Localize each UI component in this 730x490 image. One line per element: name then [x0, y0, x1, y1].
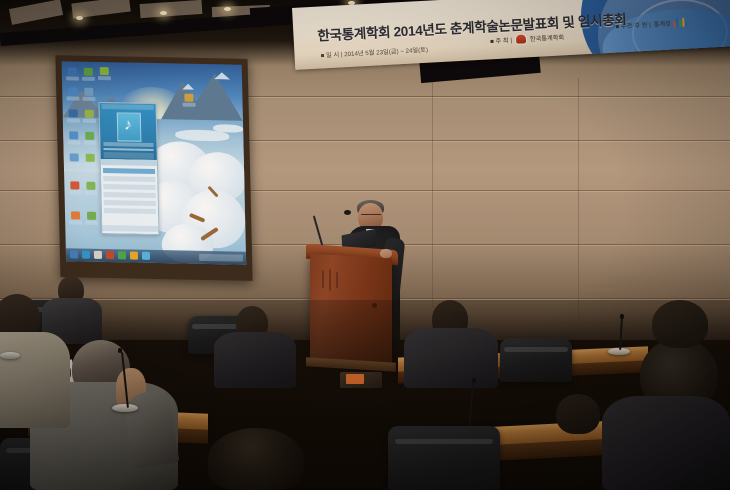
taskbar-icon[interactable]: [130, 251, 138, 259]
ceiling-light: [224, 7, 231, 11]
gooseneck-mic-head: [118, 348, 122, 353]
speaker-hand: [380, 249, 392, 258]
desktop-icon-label: [66, 76, 79, 80]
media-player-window[interactable]: ♪: [98, 102, 159, 235]
audience-bag-stripe: [346, 374, 364, 384]
ceiling-light: [76, 16, 83, 20]
desktop-icon[interactable]: [68, 87, 77, 95]
desktop-icon-label: [84, 163, 97, 167]
wallpaper-ice: [213, 124, 243, 133]
desktop-icon[interactable]: [85, 132, 94, 140]
desktop-icon[interactable]: [71, 211, 80, 219]
playlist-panel[interactable]: [101, 159, 159, 234]
banner-sponsor-label: ■ 주관·후 원 |: [615, 19, 651, 30]
lectern-grain: [336, 272, 338, 288]
desktop-icon[interactable]: [100, 67, 109, 75]
desktop-icon[interactable]: [84, 68, 93, 76]
audience-head: [556, 394, 600, 434]
desktop-icon[interactable]: [85, 110, 94, 118]
playlist-row[interactable]: [103, 168, 155, 174]
audience-body: [404, 328, 498, 388]
banner-title: 한국통계학회 2014년도 춘계학술논문발표회 및 임시총회: [317, 8, 627, 45]
wall-seam-vertical: [578, 78, 579, 318]
playlist-row[interactable]: [104, 200, 156, 206]
desktop-icon-label: [82, 97, 95, 101]
desktop-icon-label: [69, 220, 82, 224]
statistics-korea-logo-icon: [673, 17, 688, 28]
windows-taskbar[interactable]: [66, 248, 246, 264]
music-note-icon: ♪: [124, 116, 132, 134]
taskbar-icon[interactable]: [118, 251, 126, 259]
audience-body: [214, 332, 296, 388]
wall-seam-vertical: [432, 78, 433, 308]
playlist-footer: [102, 225, 158, 232]
playlist-row[interactable]: [103, 176, 155, 182]
playback-controls[interactable]: [104, 152, 154, 159]
desktop-icon[interactable]: [86, 154, 95, 162]
desktop-icon[interactable]: [68, 67, 77, 75]
gooseneck-mic-base: [0, 352, 20, 359]
playlist-row[interactable]: [104, 192, 156, 198]
desktop-icon-label: [82, 77, 95, 81]
projected-desktop: ♪: [62, 61, 247, 264]
desktop-icon[interactable]: [84, 88, 93, 96]
society-emblem-icon: [515, 33, 528, 45]
audience-chair: [500, 338, 572, 382]
desktop-icon[interactable]: [87, 212, 96, 220]
lectern-grain: [322, 270, 324, 288]
desktop-icon-label: [68, 162, 81, 166]
desktop-icon-label: [85, 221, 98, 225]
taskbar-icon[interactable]: [94, 251, 102, 259]
ceiling-light: [160, 11, 167, 15]
taskbar-start-icon[interactable]: [70, 250, 78, 258]
taskbar-icon[interactable]: [82, 251, 90, 259]
projection-screen: ♪: [55, 55, 252, 281]
desktop-icon[interactable]: [69, 109, 78, 117]
desktop-icon-label: [66, 96, 79, 100]
playlist-row[interactable]: [104, 208, 156, 214]
banner-date: ■ 일 시 | 2014년 5월 23일(금) ~ 24일(토): [320, 45, 428, 60]
playlist-row[interactable]: [103, 184, 155, 190]
banner-host-label: ■ 주 최 |: [490, 35, 512, 45]
desktop-icon-label: [83, 119, 96, 123]
desktop-icon-label: [67, 140, 80, 144]
desktop-icon-label: [183, 103, 196, 107]
audience-body: [602, 396, 730, 490]
desktop-icon-label: [68, 190, 81, 194]
desktop-icon-label: [67, 118, 80, 122]
audience-head: [208, 428, 304, 490]
desktop-icon[interactable]: [70, 153, 79, 161]
lectern-grain: [329, 269, 331, 291]
eyeglasses-icon: [361, 214, 381, 219]
banner-sponsor-name: 통계청: [653, 18, 671, 28]
gooseneck-mic-base: [112, 404, 138, 412]
media-player-titlebar[interactable]: [102, 104, 154, 110]
system-tray[interactable]: [199, 254, 243, 262]
audience-chair: [388, 426, 500, 490]
gooseneck-mic-head: [472, 378, 476, 383]
media-player-header: ♪: [100, 103, 157, 160]
desktop-icon-label: [84, 191, 97, 195]
taskbar-icon[interactable]: [106, 251, 114, 259]
desktop-icon-label: [83, 141, 96, 145]
taskbar-icon[interactable]: [142, 252, 150, 260]
playlist-header: [101, 159, 157, 166]
gooseneck-mic-head: [620, 314, 624, 319]
desktop-icon[interactable]: [70, 181, 79, 189]
wallpaper-snowcap: [214, 72, 230, 79]
banner-host-name: 한국통계학회: [530, 32, 565, 43]
audience-head: [652, 300, 708, 348]
desktop-icon[interactable]: [184, 94, 193, 102]
seek-bar[interactable]: [104, 148, 154, 151]
desktop-icon[interactable]: [69, 131, 78, 139]
desktop-icon-label: [98, 76, 111, 80]
lectern-microphone-head: [344, 210, 351, 215]
now-playing-label: [103, 142, 153, 147]
audience-body: [0, 332, 70, 428]
conference-hall-photo: 한국통계학회 2014년도 춘계학술논문발표회 및 임시총회 ■ 일 시 | 2…: [0, 0, 730, 490]
desktop-icon[interactable]: [86, 182, 95, 190]
